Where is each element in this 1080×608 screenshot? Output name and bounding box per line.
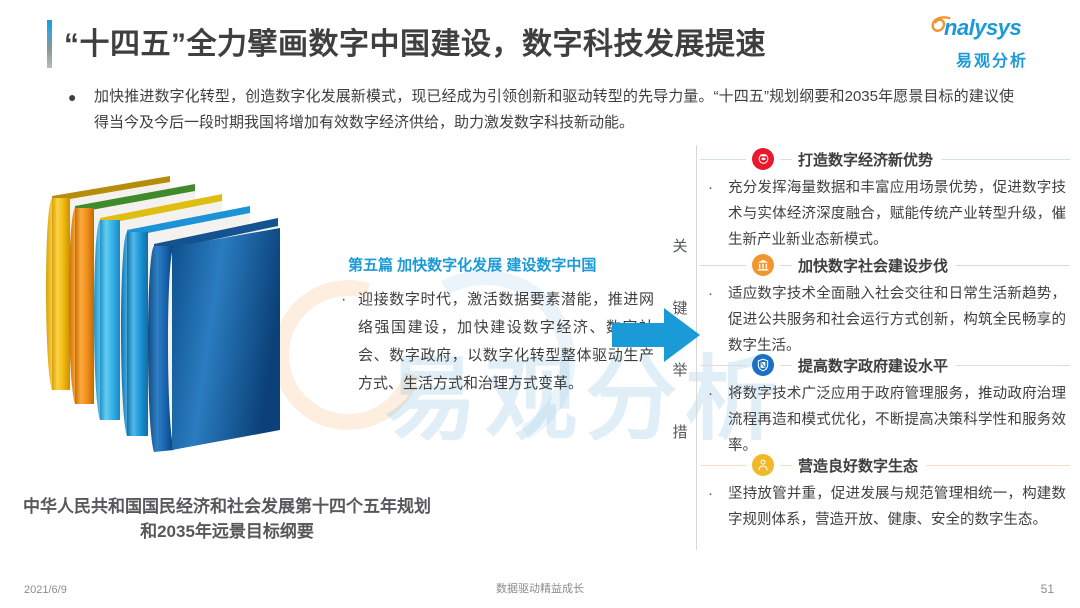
section-bullet-3: · <box>708 481 728 533</box>
section-title-3: 营造良好数字生态 <box>798 455 918 476</box>
section-rule-mid-0 <box>780 159 792 160</box>
section-body-2: · 将数字技术广泛应用于政府管理服务，推动政府治理流程再造和模式优化，不断提高决… <box>700 381 1070 459</box>
center-bullet-icon: · <box>338 286 358 398</box>
books-illustration <box>30 168 340 488</box>
section-item-1: 加快数字社会建设步伐 · 适应数字技术全面融入社会交往和日常生活新趋势，促进公共… <box>700 252 1070 359</box>
section-rule-mid-2 <box>780 365 792 366</box>
section-header-0: 打造数字经济新优势 <box>700 146 1070 172</box>
analysys-logo: nalysys 易观分析 <box>930 12 1054 70</box>
slide-root: 易观分析 “十四五”全力擘画数字中国建设，数字科技发展提速 nalysys 易观… <box>0 0 1080 608</box>
section-rule-right-0 <box>941 159 1070 160</box>
section-bullet-1: · <box>708 281 728 359</box>
section-title-2: 提高数字政府建设水平 <box>798 355 948 376</box>
right-arrow-icon <box>612 306 700 364</box>
section-rule-mid-1 <box>780 265 792 266</box>
lead-bullet-icon: ● <box>62 84 94 136</box>
section-rule-right-1 <box>956 265 1070 266</box>
section-text-2: 将数字技术广泛应用于政府管理服务，推动政府治理流程再造和模式优化，不断提高决策科… <box>728 381 1070 459</box>
lead-text: 加快推进数字化转型，创造数字化发展新模式，现已经成为引领创新和驱动转型的先导力量… <box>94 84 1014 136</box>
medal-icon <box>752 148 774 170</box>
page-title: “十四五”全力擘画数字中国建设，数字科技发展提速 <box>64 19 766 63</box>
section-header-3: 营造良好数字生态 <box>700 452 1070 478</box>
bank-icon <box>752 254 774 276</box>
section-title-1: 加快数字社会建设步伐 <box>798 255 948 276</box>
vertical-label-char-0: 关 <box>668 216 692 278</box>
section-item-0: 打造数字经济新优势 · 充分发挥海量数据和丰富应用场景优势，促进数字技术与实体经… <box>700 146 1070 253</box>
section-body-1: · 适应数字技术全面融入社会交往和日常生活新趋势，促进公共服务和社会运行方式创新… <box>700 281 1070 359</box>
shield-icon <box>752 354 774 376</box>
section-rule-left-1 <box>700 265 746 266</box>
section-item-2: 提高数字政府建设水平 · 将数字技术广泛应用于政府管理服务，推动政府治理流程再造… <box>700 352 1070 459</box>
section-header-1: 加快数字社会建设步伐 <box>700 252 1070 278</box>
medal-icon-glyph <box>756 152 771 167</box>
section-text-1: 适应数字技术全面融入社会交往和日常生活新趋势，促进公共服务和社会运行方式创新，构… <box>728 281 1070 359</box>
footer-slogan: 数据驱动精益成长 <box>0 580 1080 596</box>
section-rule-right-2 <box>956 365 1070 366</box>
center-heading: 第五篇 加快数字化发展 建设数字中国 <box>348 254 596 275</box>
books-caption: 中华人民共和国国民经济和社会发展第十四个五年规划和2035年远景目标纲要 <box>22 494 432 544</box>
section-text-3: 坚持放管并重，促进发展与规范管理相统一，构建数字规则体系，营造开放、健康、安全的… <box>728 481 1070 533</box>
section-body-3: · 坚持放管并重，促进发展与规范管理相统一，构建数字规则体系，营造开放、健康、安… <box>700 481 1070 533</box>
section-text-0: 充分发挥海量数据和丰富应用场景优势，促进数字技术与实体经济深度融合，赋能传统产业… <box>728 175 1070 253</box>
footer-page-number: 51 <box>1041 582 1054 596</box>
center-body: · 迎接数字时代，激活数据要素潜能，推进网络强国建设，加快建设数字经济、数字社会… <box>338 286 654 398</box>
center-text: 迎接数字时代，激活数据要素潜能，推进网络强国建设，加快建设数字经济、数字社会、数… <box>358 286 654 398</box>
shield-icon-glyph <box>756 358 770 372</box>
logo-cn-text: 易观分析 <box>930 47 1054 71</box>
section-bullet-0: · <box>708 175 728 253</box>
section-rule-left-0 <box>700 159 746 160</box>
section-bullet-2: · <box>708 381 728 459</box>
lead-paragraph: ● 加快推进数字化转型，创造数字化发展新模式，现已经成为引领创新和驱动转型的先导… <box>62 84 1014 136</box>
section-title-0: 打造数字经济新优势 <box>798 149 933 170</box>
vertical-label-char-3: 措 <box>668 402 692 464</box>
section-header-2: 提高数字政府建设水平 <box>700 352 1070 378</box>
section-rule-right-3 <box>926 465 1070 466</box>
section-item-3: 营造良好数字生态 · 坚持放管并重，促进发展与规范管理相统一，构建数字规则体系，… <box>700 452 1070 533</box>
person-icon-glyph <box>756 458 770 472</box>
section-body-0: · 充分发挥海量数据和丰富应用场景优势，促进数字技术与实体经济深度融合，赋能传统… <box>700 175 1070 253</box>
section-rule-left-2 <box>700 365 746 366</box>
section-rule-mid-3 <box>780 465 792 466</box>
logo-word: nalysys <box>944 15 1021 41</box>
title-accent-bar <box>47 20 52 68</box>
sections-list: 打造数字经济新优势 · 充分发挥海量数据和丰富应用场景优势，促进数字技术与实体经… <box>700 146 1070 566</box>
section-rule-left-3 <box>700 465 746 466</box>
bank-icon-glyph <box>756 258 770 272</box>
person-icon <box>752 454 774 476</box>
logo-wordmark-row: nalysys <box>930 12 1054 44</box>
